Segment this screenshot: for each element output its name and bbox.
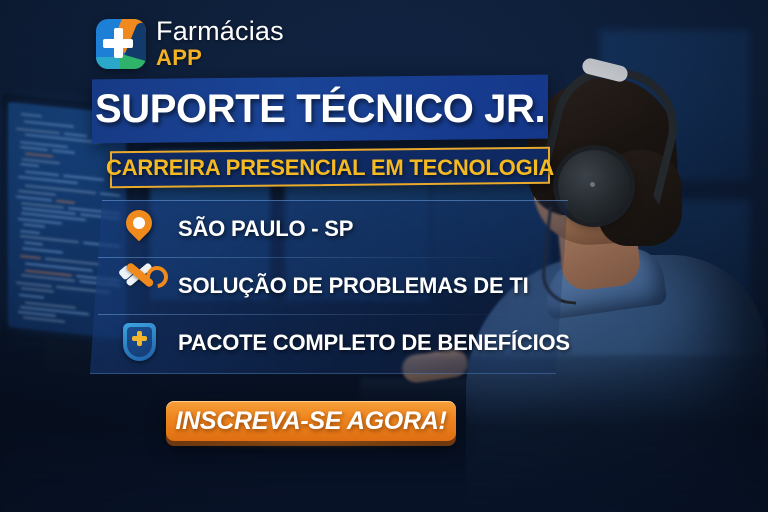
- location-pin-icon: [118, 208, 160, 250]
- feature-label-itsupport: SOLUÇÃO DE PROBLEMAS DE TI: [178, 273, 529, 299]
- headline-banner: SUPORTE TÉCNICO JR.: [92, 75, 548, 144]
- brand-suffix: APP: [156, 47, 284, 69]
- apply-now-button[interactable]: INSCREVA-SE AGORA!: [166, 401, 456, 441]
- feature-item-benefits: PACOTE COMPLETO DE BENEFÍCIOS: [104, 314, 574, 371]
- feature-item-location: SÃO PAULO - SP: [104, 200, 574, 257]
- tools-wrench-screwdriver-icon: [118, 265, 160, 307]
- shield-benefits-icon: [118, 322, 160, 364]
- feature-label-benefits: PACOTE COMPLETO DE BENEFÍCIOS: [178, 330, 570, 356]
- page-subtitle: CARREIRA PRESENCIAL EM TECNOLOGIA: [106, 154, 554, 180]
- brand-wordmark: Farmácias APP: [156, 18, 284, 69]
- job-ad-banner: Farmácias APP SUPORTE TÉCNICO JR. CARREI…: [0, 0, 768, 512]
- brand-logo[interactable]: Farmácias APP: [96, 18, 284, 69]
- apply-now-label: INSCREVA-SE AGORA!: [175, 407, 446, 436]
- pharmacy-cross-logo-icon: [96, 19, 146, 69]
- page-title: SUPORTE TÉCNICO JR.: [95, 87, 545, 132]
- subtitle-banner: CARREIRA PRESENCIAL EM TECNOLOGIA: [110, 147, 550, 189]
- features-list: SÃO PAULO - SP SOLUÇÃO DE PROBLEMAS DE T…: [104, 200, 574, 372]
- feature-label-location: SÃO PAULO - SP: [178, 216, 353, 242]
- feature-item-itsupport: SOLUÇÃO DE PROBLEMAS DE TI: [104, 257, 574, 314]
- brand-name: Farmácias: [156, 18, 284, 45]
- headset-cup-detail: [590, 182, 595, 187]
